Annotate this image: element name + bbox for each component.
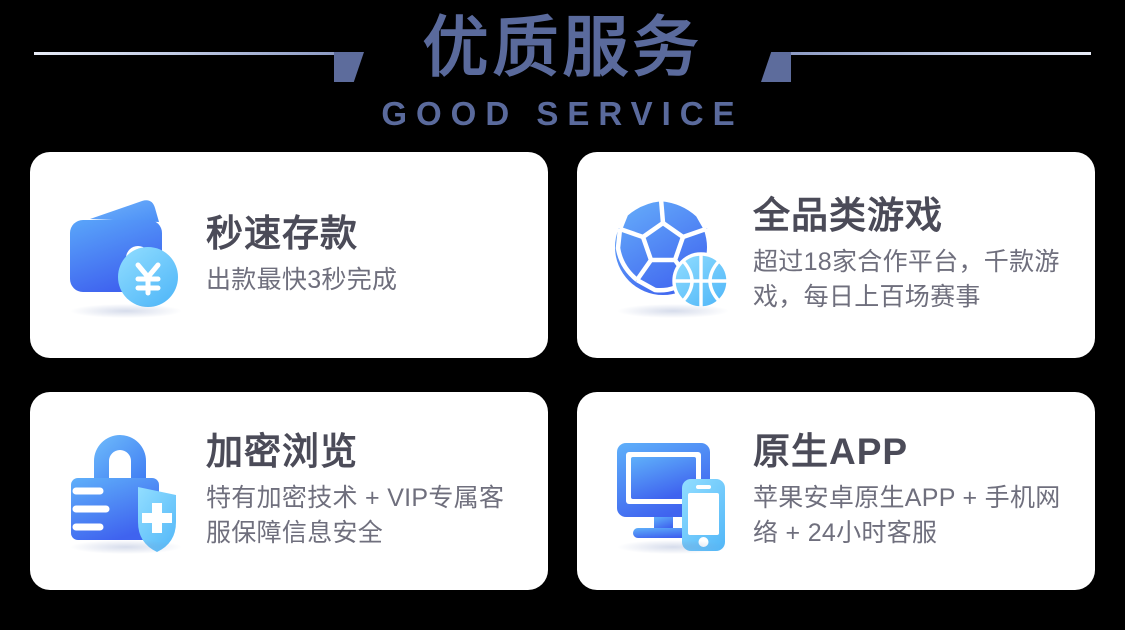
card-text-block: 加密浏览 特有加密技术 + VIP专属客服保障信息安全 — [206, 430, 526, 552]
card-title: 原生APP — [753, 430, 1073, 474]
card-text-block: 秒速存款 出款最快3秒完成 — [206, 212, 526, 298]
soccer-basketball-icon — [607, 189, 739, 321]
feature-card-deposit[interactable]: 秒速存款 出款最快3秒完成 — [30, 152, 548, 358]
feature-card-games[interactable]: 全品类游戏 超过18家合作平台，千款游戏，每日上百场赛事 — [577, 152, 1095, 358]
card-text-block: 原生APP 苹果安卓原生APP + 手机网络 + 24小时客服 — [753, 430, 1073, 552]
wallet-yen-icon — [60, 189, 192, 321]
card-description: 超过18家合作平台，千款游戏，每日上百场赛事 — [753, 245, 1073, 316]
card-title: 加密浏览 — [206, 430, 526, 474]
banner-header: 优质服务 GOOD SERVICE — [0, 0, 1125, 146]
lock-shield-icon — [60, 425, 192, 557]
monitor-phone-icon — [607, 425, 739, 557]
card-description: 出款最快3秒完成 — [206, 263, 526, 299]
feature-card-encryption[interactable]: 加密浏览 特有加密技术 + VIP专属客服保障信息安全 — [30, 392, 548, 590]
card-description: 特有加密技术 + VIP专属客服保障信息安全 — [206, 481, 526, 552]
card-title: 秒速存款 — [206, 212, 526, 256]
card-description: 苹果安卓原生APP + 手机网络 + 24小时客服 — [753, 481, 1073, 552]
feature-card-grid: 秒速存款 出款最快3秒完成 — [30, 152, 1095, 592]
promo-banner: 优质服务 GOOD SERVICE — [0, 0, 1125, 630]
card-text-block: 全品类游戏 超过18家合作平台，千款游戏，每日上百场赛事 — [753, 194, 1073, 316]
card-title: 全品类游戏 — [753, 194, 1073, 238]
feature-card-native-app[interactable]: 原生APP 苹果安卓原生APP + 手机网络 + 24小时客服 — [577, 392, 1095, 590]
page-subtitle: GOOD SERVICE — [0, 95, 1125, 133]
page-title: 优质服务 — [0, 8, 1125, 86]
